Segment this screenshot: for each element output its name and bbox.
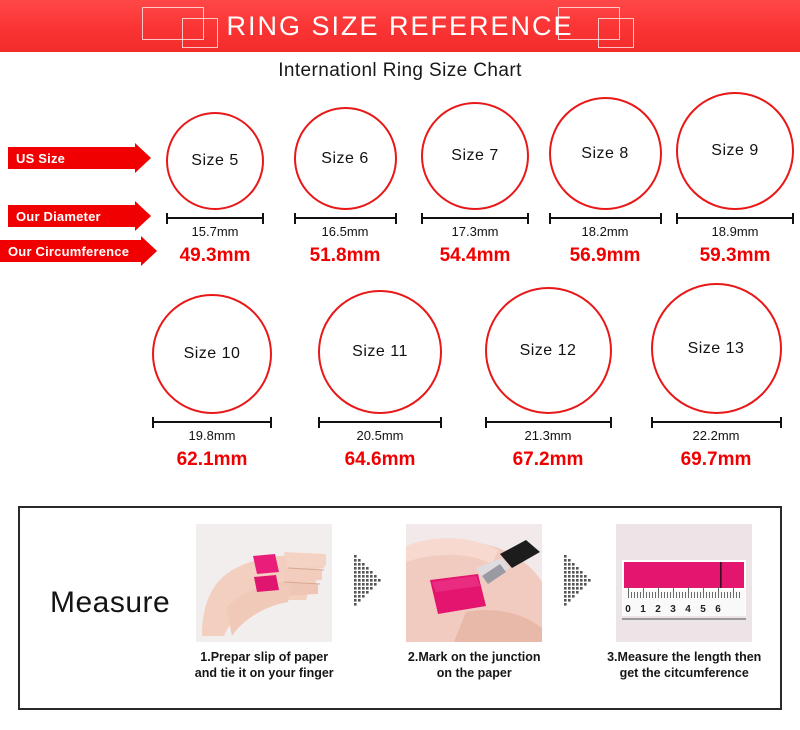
- ring-circle: Size 12: [485, 287, 612, 414]
- circumference-value: 59.3mm: [700, 245, 771, 267]
- diameter-dimension-line: [421, 213, 529, 223]
- page-title: RING SIZE REFERENCE: [226, 11, 573, 42]
- svg-text:0: 0: [625, 604, 631, 615]
- dimension-tick-left: [294, 213, 296, 224]
- measure-step: 01234563.Measure the length then get the…: [600, 524, 768, 681]
- ring-size-label: Size 13: [688, 340, 745, 358]
- dimension-tick-right: [395, 213, 397, 224]
- dimension-tick-right: [262, 213, 264, 224]
- ring-size-cell: Size 1120.5mm64.6mm: [296, 290, 464, 471]
- ring-size-label: Size 11: [352, 343, 408, 361]
- diameter-dimension-line: [485, 417, 612, 427]
- diameter-value: 19.8mm: [189, 428, 236, 443]
- ring-size-row-2: Size 1019.8mm62.1mmSize 1120.5mm64.6mmSi…: [0, 283, 800, 471]
- dimension-bar: [152, 421, 272, 423]
- dimension-tick-left: [318, 417, 320, 428]
- svg-text:5: 5: [700, 604, 706, 615]
- measure-step: 1.Prepar slip of paper and tie it on you…: [180, 524, 348, 681]
- ring-size-label: Size 10: [184, 345, 241, 363]
- dimension-tick-left: [549, 213, 551, 224]
- step-separator-arrow: [348, 524, 390, 642]
- dimension-tick-right: [792, 213, 794, 224]
- ring-size-label: Size 12: [520, 342, 577, 360]
- dimension-bar: [676, 217, 794, 219]
- measure-title: Measure: [50, 586, 170, 620]
- ring-size-cell: Size 818.2mm56.9mm: [540, 97, 670, 267]
- dimension-bar: [318, 421, 442, 423]
- circumference-value: 51.8mm: [310, 245, 381, 267]
- diameter-dimension-line: [676, 213, 794, 223]
- ring-size-cell: Size 717.3mm54.4mm: [410, 102, 540, 267]
- svg-text:3: 3: [670, 604, 676, 615]
- ring-size-label: Size 8: [581, 145, 628, 163]
- svg-text:4: 4: [685, 604, 691, 615]
- measure-step-caption: 2.Mark on the junction on the paper: [408, 650, 541, 681]
- dimension-tick-right: [527, 213, 529, 224]
- chart-subtitle: Internationl Ring Size Chart: [0, 60, 800, 82]
- ring-size-row-1: Size 515.7mm49.3mmSize 616.5mm51.8mmSize…: [0, 92, 800, 267]
- dimension-tick-left: [676, 213, 678, 224]
- ring-circle: Size 7: [421, 102, 529, 210]
- diameter-value: 20.5mm: [357, 428, 404, 443]
- measure-step-photo: [196, 524, 332, 642]
- ring-size-label: Size 5: [191, 152, 238, 170]
- dimension-tick-left: [166, 213, 168, 224]
- ring-circle: Size 10: [152, 294, 272, 414]
- dimension-tick-right: [440, 417, 442, 428]
- dimension-bar: [485, 421, 612, 423]
- ring-size-label: Size 7: [451, 147, 498, 165]
- diameter-dimension-line: [294, 213, 397, 223]
- diameter-dimension-line: [152, 417, 272, 427]
- diameter-dimension-line: [318, 417, 442, 427]
- dimension-tick-right: [660, 213, 662, 224]
- dimension-bar: [166, 217, 264, 219]
- circumference-value: 67.2mm: [513, 449, 584, 471]
- dimension-bar: [294, 217, 397, 219]
- circumference-value: 64.6mm: [345, 449, 416, 471]
- overlapping-rectangles-icon: [182, 18, 218, 48]
- diameter-value: 21.3mm: [525, 428, 572, 443]
- ring-circle: Size 11: [318, 290, 442, 414]
- photo-ruler-measuring-strip: 0123456: [616, 524, 752, 642]
- ring-size-cell: Size 515.7mm49.3mm: [150, 112, 280, 267]
- step-separator-arrow: [558, 524, 600, 642]
- diameter-dimension-line: [166, 213, 264, 223]
- measure-panel: Measure 1.Prepar slip of paper and tie i…: [18, 506, 782, 710]
- measure-step-photo: 0123456: [616, 524, 752, 642]
- ring-circle: Size 13: [651, 283, 782, 414]
- diameter-dimension-line: [549, 213, 662, 223]
- measure-step-caption: 3.Measure the length then get the citcum…: [607, 650, 761, 681]
- banner-decoration-left: [142, 5, 260, 47]
- diameter-dimension-line: [651, 417, 782, 427]
- dimension-tick-left: [152, 417, 154, 428]
- ring-size-cell: Size 1019.8mm62.1mm: [128, 294, 296, 471]
- svg-text:1: 1: [640, 604, 646, 615]
- ring-size-label: Size 9: [711, 142, 758, 160]
- diameter-value: 18.2mm: [582, 224, 629, 239]
- dimension-tick-left: [421, 213, 423, 224]
- dimension-bar: [421, 217, 529, 219]
- dotted-triangle-right-icon: [564, 555, 594, 611]
- dotted-triangle-right-icon: [354, 555, 384, 611]
- dimension-tick-left: [485, 417, 487, 428]
- ring-size-cell: Size 1322.2mm69.7mm: [632, 283, 800, 471]
- measure-step: 2.Mark on the junction on the paper: [390, 524, 558, 681]
- photo-hand-with-paper-strip: [196, 524, 332, 642]
- circumference-value: 49.3mm: [180, 245, 251, 267]
- photo-pen-marking-paper: [406, 524, 542, 642]
- measure-step-photo: [406, 524, 542, 642]
- ring-circle: Size 8: [549, 97, 662, 210]
- dimension-tick-right: [270, 417, 272, 428]
- ring-circle: Size 5: [166, 112, 264, 210]
- overlapping-rectangles-icon: [598, 18, 634, 48]
- ring-circle: Size 9: [676, 92, 794, 210]
- diameter-value: 16.5mm: [322, 224, 369, 239]
- diameter-value: 15.7mm: [192, 224, 239, 239]
- dimension-bar: [651, 421, 782, 423]
- measure-step-caption: 1.Prepar slip of paper and tie it on you…: [195, 650, 334, 681]
- ring-circle: Size 6: [294, 107, 397, 210]
- ring-size-label: Size 6: [321, 150, 368, 168]
- dimension-bar: [549, 217, 662, 219]
- diameter-value: 17.3mm: [452, 224, 499, 239]
- circumference-value: 69.7mm: [681, 449, 752, 471]
- measure-steps: 1.Prepar slip of paper and tie it on you…: [180, 524, 768, 681]
- banner-decoration-right: [558, 5, 676, 47]
- dimension-tick-right: [610, 417, 612, 428]
- diameter-value: 22.2mm: [693, 428, 740, 443]
- circumference-value: 54.4mm: [440, 245, 511, 267]
- header-banner: RING SIZE REFERENCE: [0, 0, 800, 52]
- circumference-value: 56.9mm: [570, 245, 641, 267]
- dimension-tick-left: [651, 417, 653, 428]
- circumference-value: 62.1mm: [177, 449, 248, 471]
- ring-size-cell: Size 1221.3mm67.2mm: [464, 287, 632, 471]
- ring-size-cell: Size 616.5mm51.8mm: [280, 107, 410, 267]
- ring-size-cell: Size 918.9mm59.3mm: [670, 92, 800, 267]
- dimension-tick-right: [780, 417, 782, 428]
- svg-text:6: 6: [715, 604, 721, 615]
- svg-text:2: 2: [655, 604, 661, 615]
- diameter-value: 18.9mm: [712, 224, 759, 239]
